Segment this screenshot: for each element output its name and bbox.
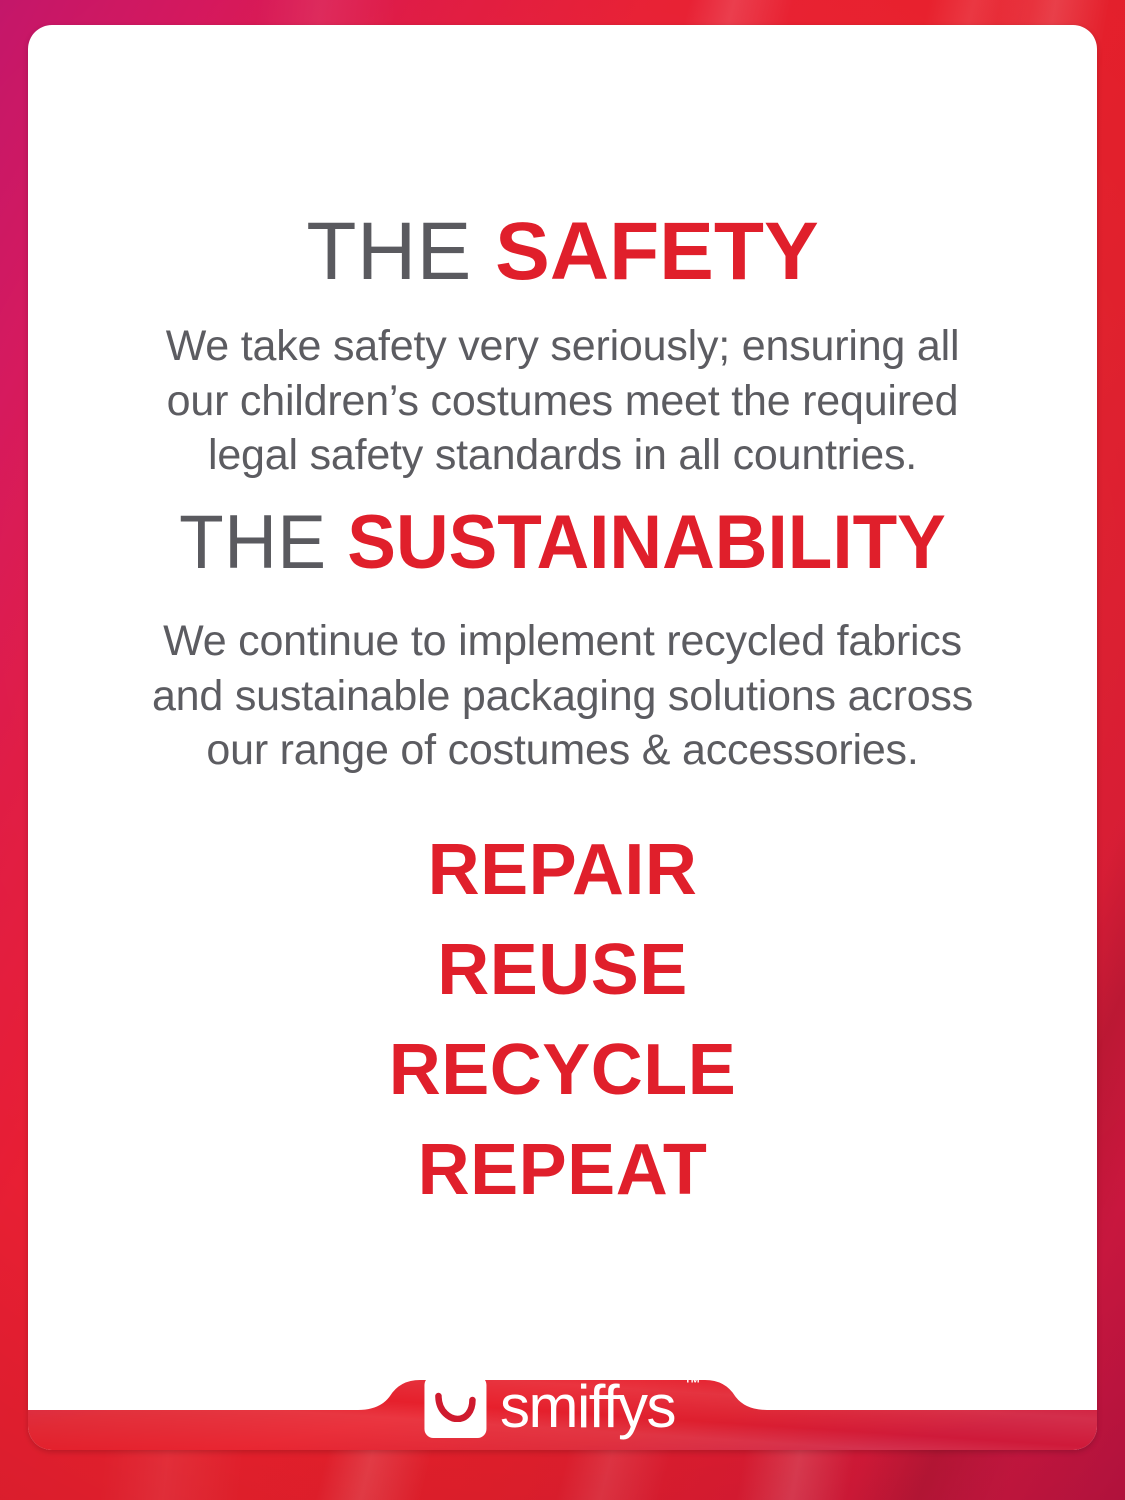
body-copy-safety: We take safety very seriously; ensuring … <box>133 319 993 483</box>
heading-safety-prefix: THE <box>306 206 495 297</box>
poster-root: THE SAFETY We take safety very seriously… <box>0 0 1125 1500</box>
heading-sustainability-accent: SUSTAINABILITY <box>347 500 946 585</box>
slogan-word-repeat: REPEAT <box>213 1120 913 1220</box>
heading-sustainability: THE SUSTAINABILITY <box>49 505 1075 581</box>
content-card: THE SAFETY We take safety very seriously… <box>28 25 1097 1450</box>
slogan-word-repair: REPAIR <box>213 820 913 920</box>
heading-safety: THE SAFETY <box>28 211 1097 293</box>
trademark-symbol: ™ <box>684 1375 701 1392</box>
heading-sustainability-prefix: THE <box>179 500 347 585</box>
heading-safety-accent: SAFETY <box>495 206 818 297</box>
slogan-word-recycle: RECYCLE <box>213 1020 913 1120</box>
body-copy-sustainability: We continue to implement recycled fabric… <box>143 614 983 778</box>
slogan-word-reuse: REUSE <box>213 920 913 1020</box>
slogan-stack: REPAIR REUSE RECYCLE REPEAT <box>213 820 913 1220</box>
brand-wordmark: smiffys™ <box>500 1377 701 1437</box>
brand-logo[interactable]: smiffys™ <box>424 1370 701 1444</box>
logo-band: smiffys™ <box>28 1386 1097 1450</box>
brand-wordmark-text: smiffys <box>500 1373 675 1440</box>
smile-arc-icon <box>424 1376 486 1438</box>
